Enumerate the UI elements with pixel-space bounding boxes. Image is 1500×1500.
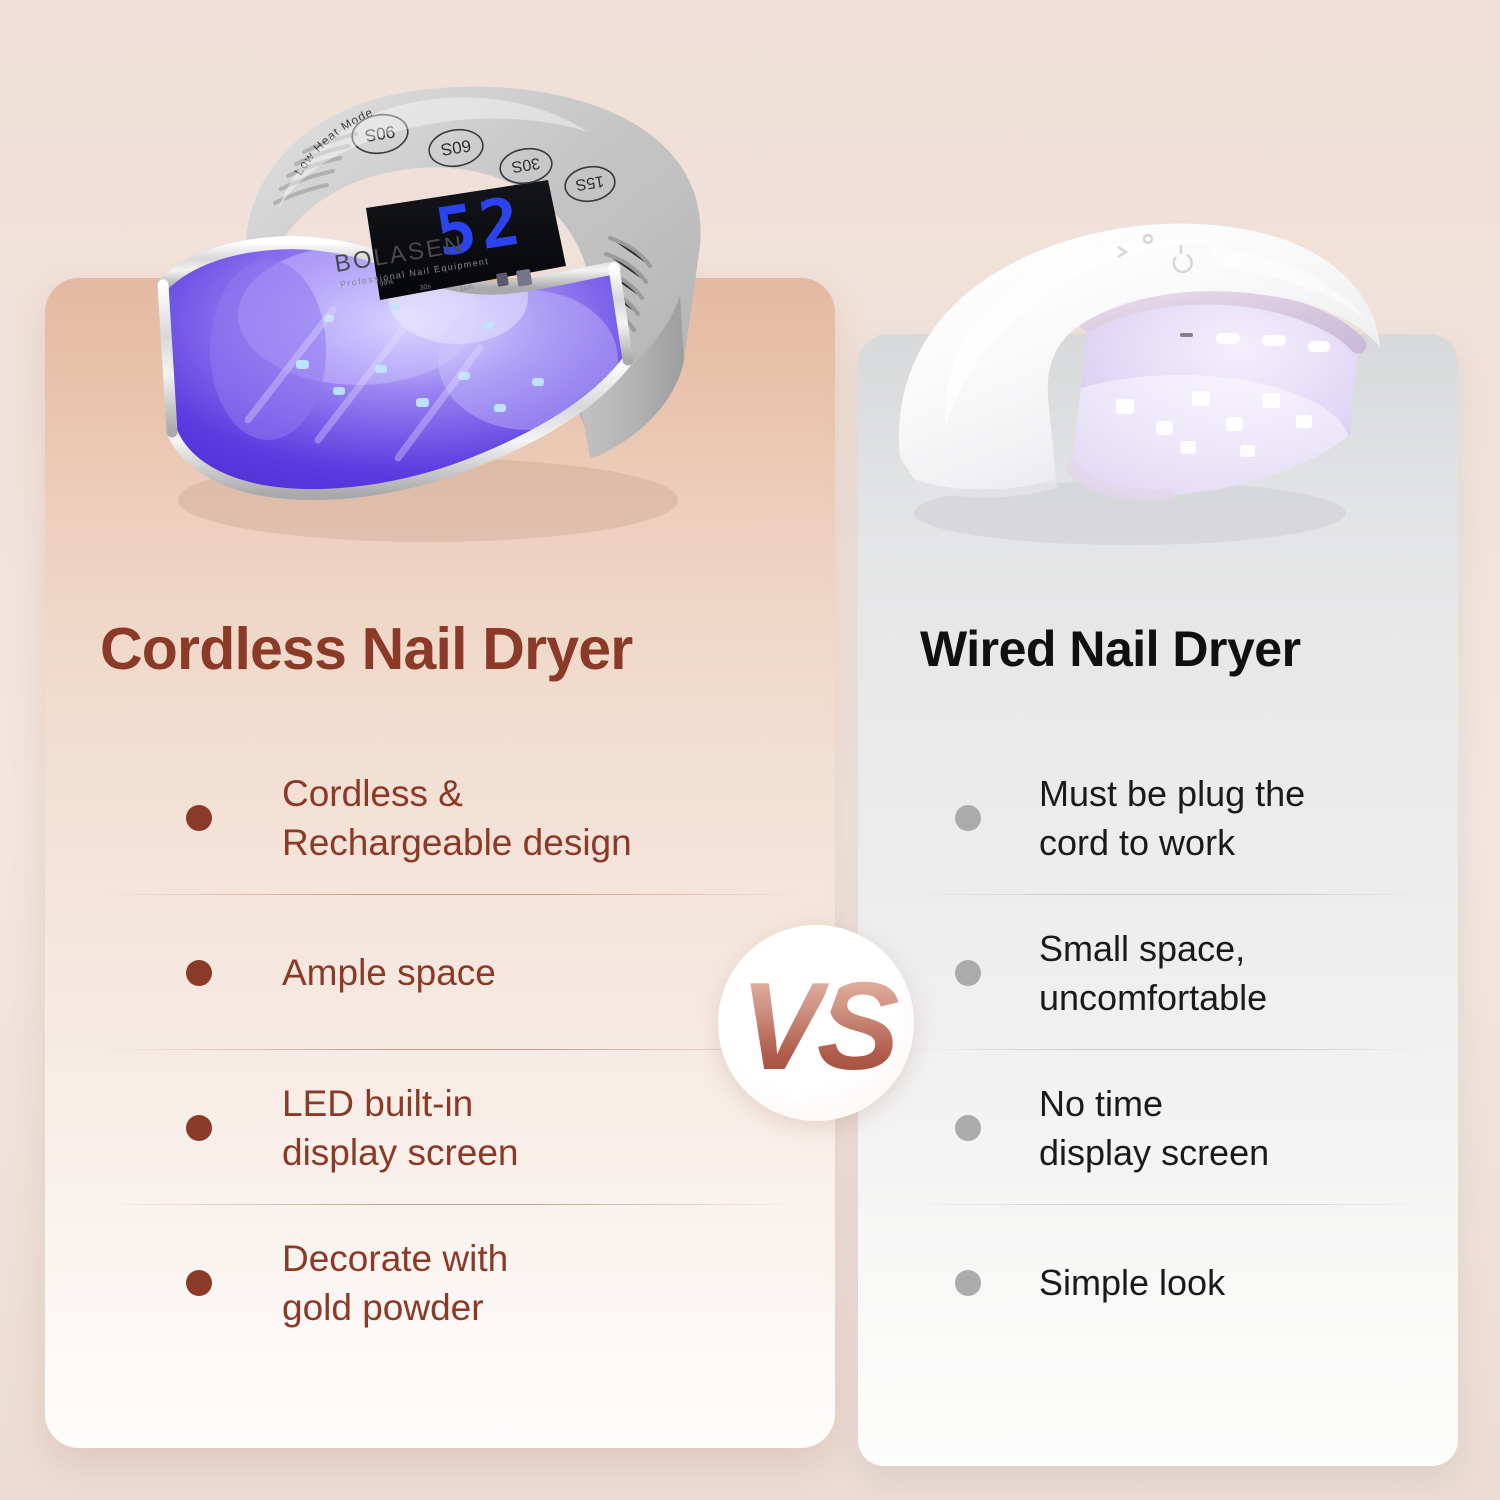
cordless-feature-list: Cordless & Rechargeable design Ample spa… xyxy=(100,740,800,1360)
bullet-dot-icon xyxy=(186,1115,212,1141)
feature-line-1: LED built-in xyxy=(282,1083,473,1124)
comparison-infographic: 52 99% 30s 1s/h Low Heat Mode 90S 60S xyxy=(0,0,1500,1500)
list-item: Simple look xyxy=(905,1205,1425,1360)
vs-badge: VS xyxy=(718,925,914,1121)
feature-line-1: Cordless & xyxy=(282,773,463,814)
wired-nail-lamp-image xyxy=(880,195,1400,565)
cordless-nail-lamp-image: 52 99% 30s 1s/h Low Heat Mode 90S 60S xyxy=(128,60,748,560)
feature-line-1: Simple look xyxy=(1039,1262,1225,1303)
vs-logo-icon: VS xyxy=(728,935,904,1111)
list-item: Ample space xyxy=(100,895,800,1050)
list-item: Cordless & Rechargeable design xyxy=(100,740,800,895)
bullet-dot-icon xyxy=(186,960,212,986)
bullet-dot-icon xyxy=(186,1270,212,1296)
wired-feature-list: Must be plug the cord to work Small spac… xyxy=(905,740,1425,1360)
bullet-dot-icon xyxy=(955,960,981,986)
bullet-dot-icon xyxy=(955,805,981,831)
feature-line-1: Small space, xyxy=(1039,928,1245,969)
page-title-wired: Wired Nail Dryer xyxy=(920,620,1301,678)
list-item: Must be plug the cord to work xyxy=(905,740,1425,895)
feature-line-2: display screen xyxy=(1039,1132,1269,1173)
bullet-dot-icon xyxy=(955,1270,981,1296)
feature-line-2: Rechargeable design xyxy=(282,822,632,863)
page-title-cordless: Cordless Nail Dryer xyxy=(100,615,632,683)
feature-line-2: display screen xyxy=(282,1132,519,1173)
bullet-dot-icon xyxy=(186,805,212,831)
feature-line-1: No time xyxy=(1039,1083,1163,1124)
feature-line-1: Ample space xyxy=(282,952,496,993)
bullet-dot-icon xyxy=(955,1115,981,1141)
feature-line-1: Decorate with xyxy=(282,1238,508,1279)
feature-line-2: gold powder xyxy=(282,1287,484,1328)
list-item: Decorate with gold powder xyxy=(100,1205,800,1360)
feature-line-2: uncomfortable xyxy=(1039,977,1267,1018)
feature-line-2: cord to work xyxy=(1039,822,1235,863)
list-item: Small space, uncomfortable xyxy=(905,895,1425,1050)
list-item: LED built-in display screen xyxy=(100,1050,800,1205)
feature-line-1: Must be plug the xyxy=(1039,773,1305,814)
list-item: No time display screen xyxy=(905,1050,1425,1205)
